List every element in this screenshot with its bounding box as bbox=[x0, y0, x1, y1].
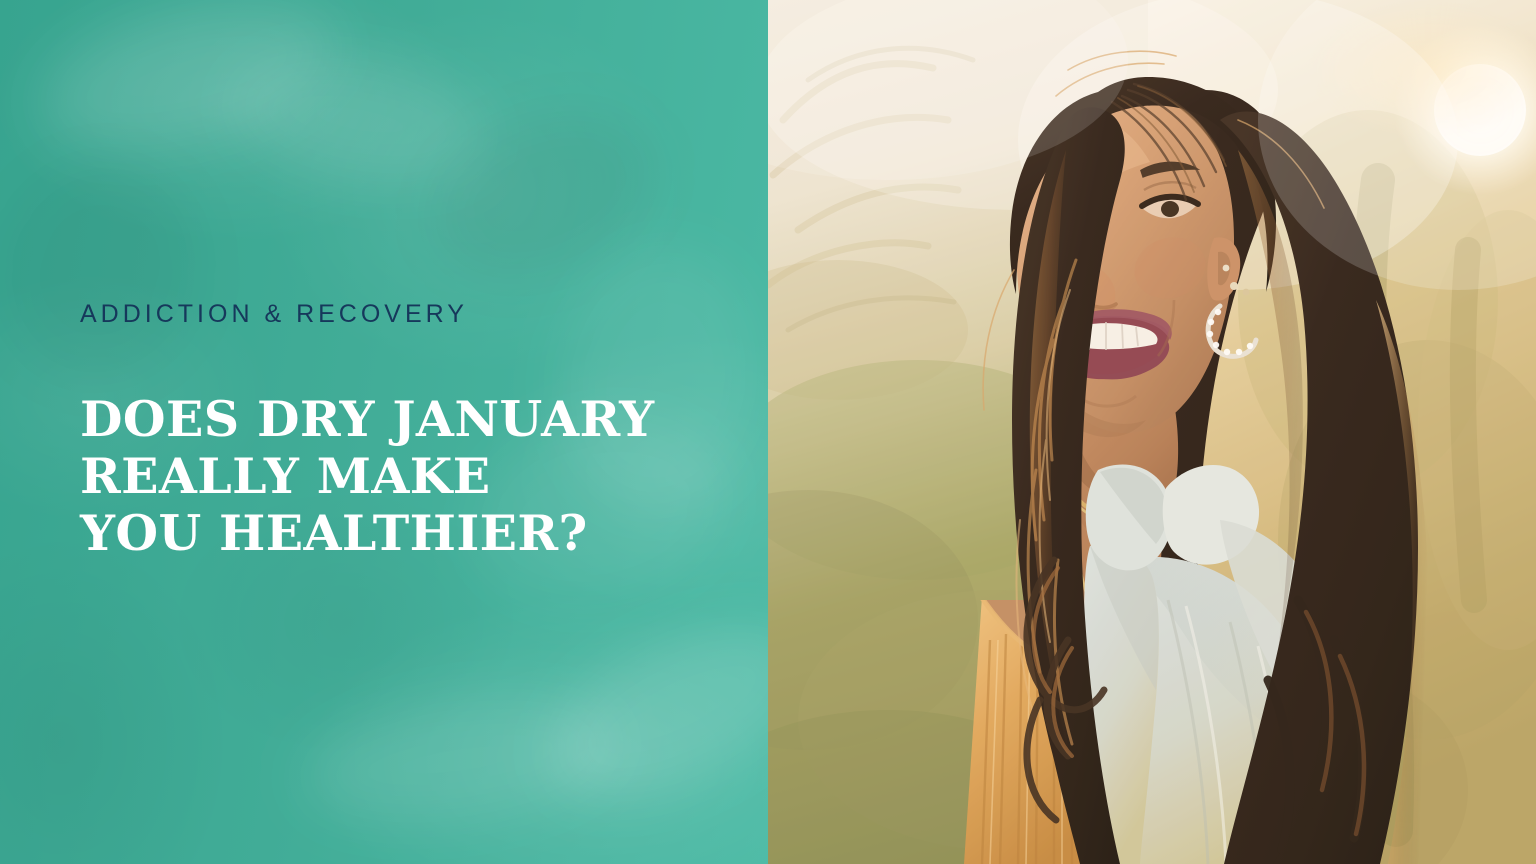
hero-text-block: ADDICTION & RECOVERY DOES DRY JANUARY RE… bbox=[80, 0, 700, 864]
headline-line-1: DOES DRY JANUARY bbox=[80, 391, 700, 448]
hero-photograph bbox=[768, 0, 1536, 864]
woman-portrait-illustration bbox=[768, 0, 1536, 864]
article-hero-banner: ADDICTION & RECOVERY DOES DRY JANUARY RE… bbox=[0, 0, 1536, 864]
page-title: DOES DRY JANUARY REALLY MAKE YOU HEALTHI… bbox=[80, 391, 700, 562]
headline-line-3: YOU HEALTHIER? bbox=[80, 505, 700, 562]
teal-text-panel: ADDICTION & RECOVERY DOES DRY JANUARY RE… bbox=[0, 0, 768, 864]
headline-line-2: REALLY MAKE bbox=[80, 448, 700, 505]
category-kicker: ADDICTION & RECOVERY bbox=[80, 302, 700, 327]
